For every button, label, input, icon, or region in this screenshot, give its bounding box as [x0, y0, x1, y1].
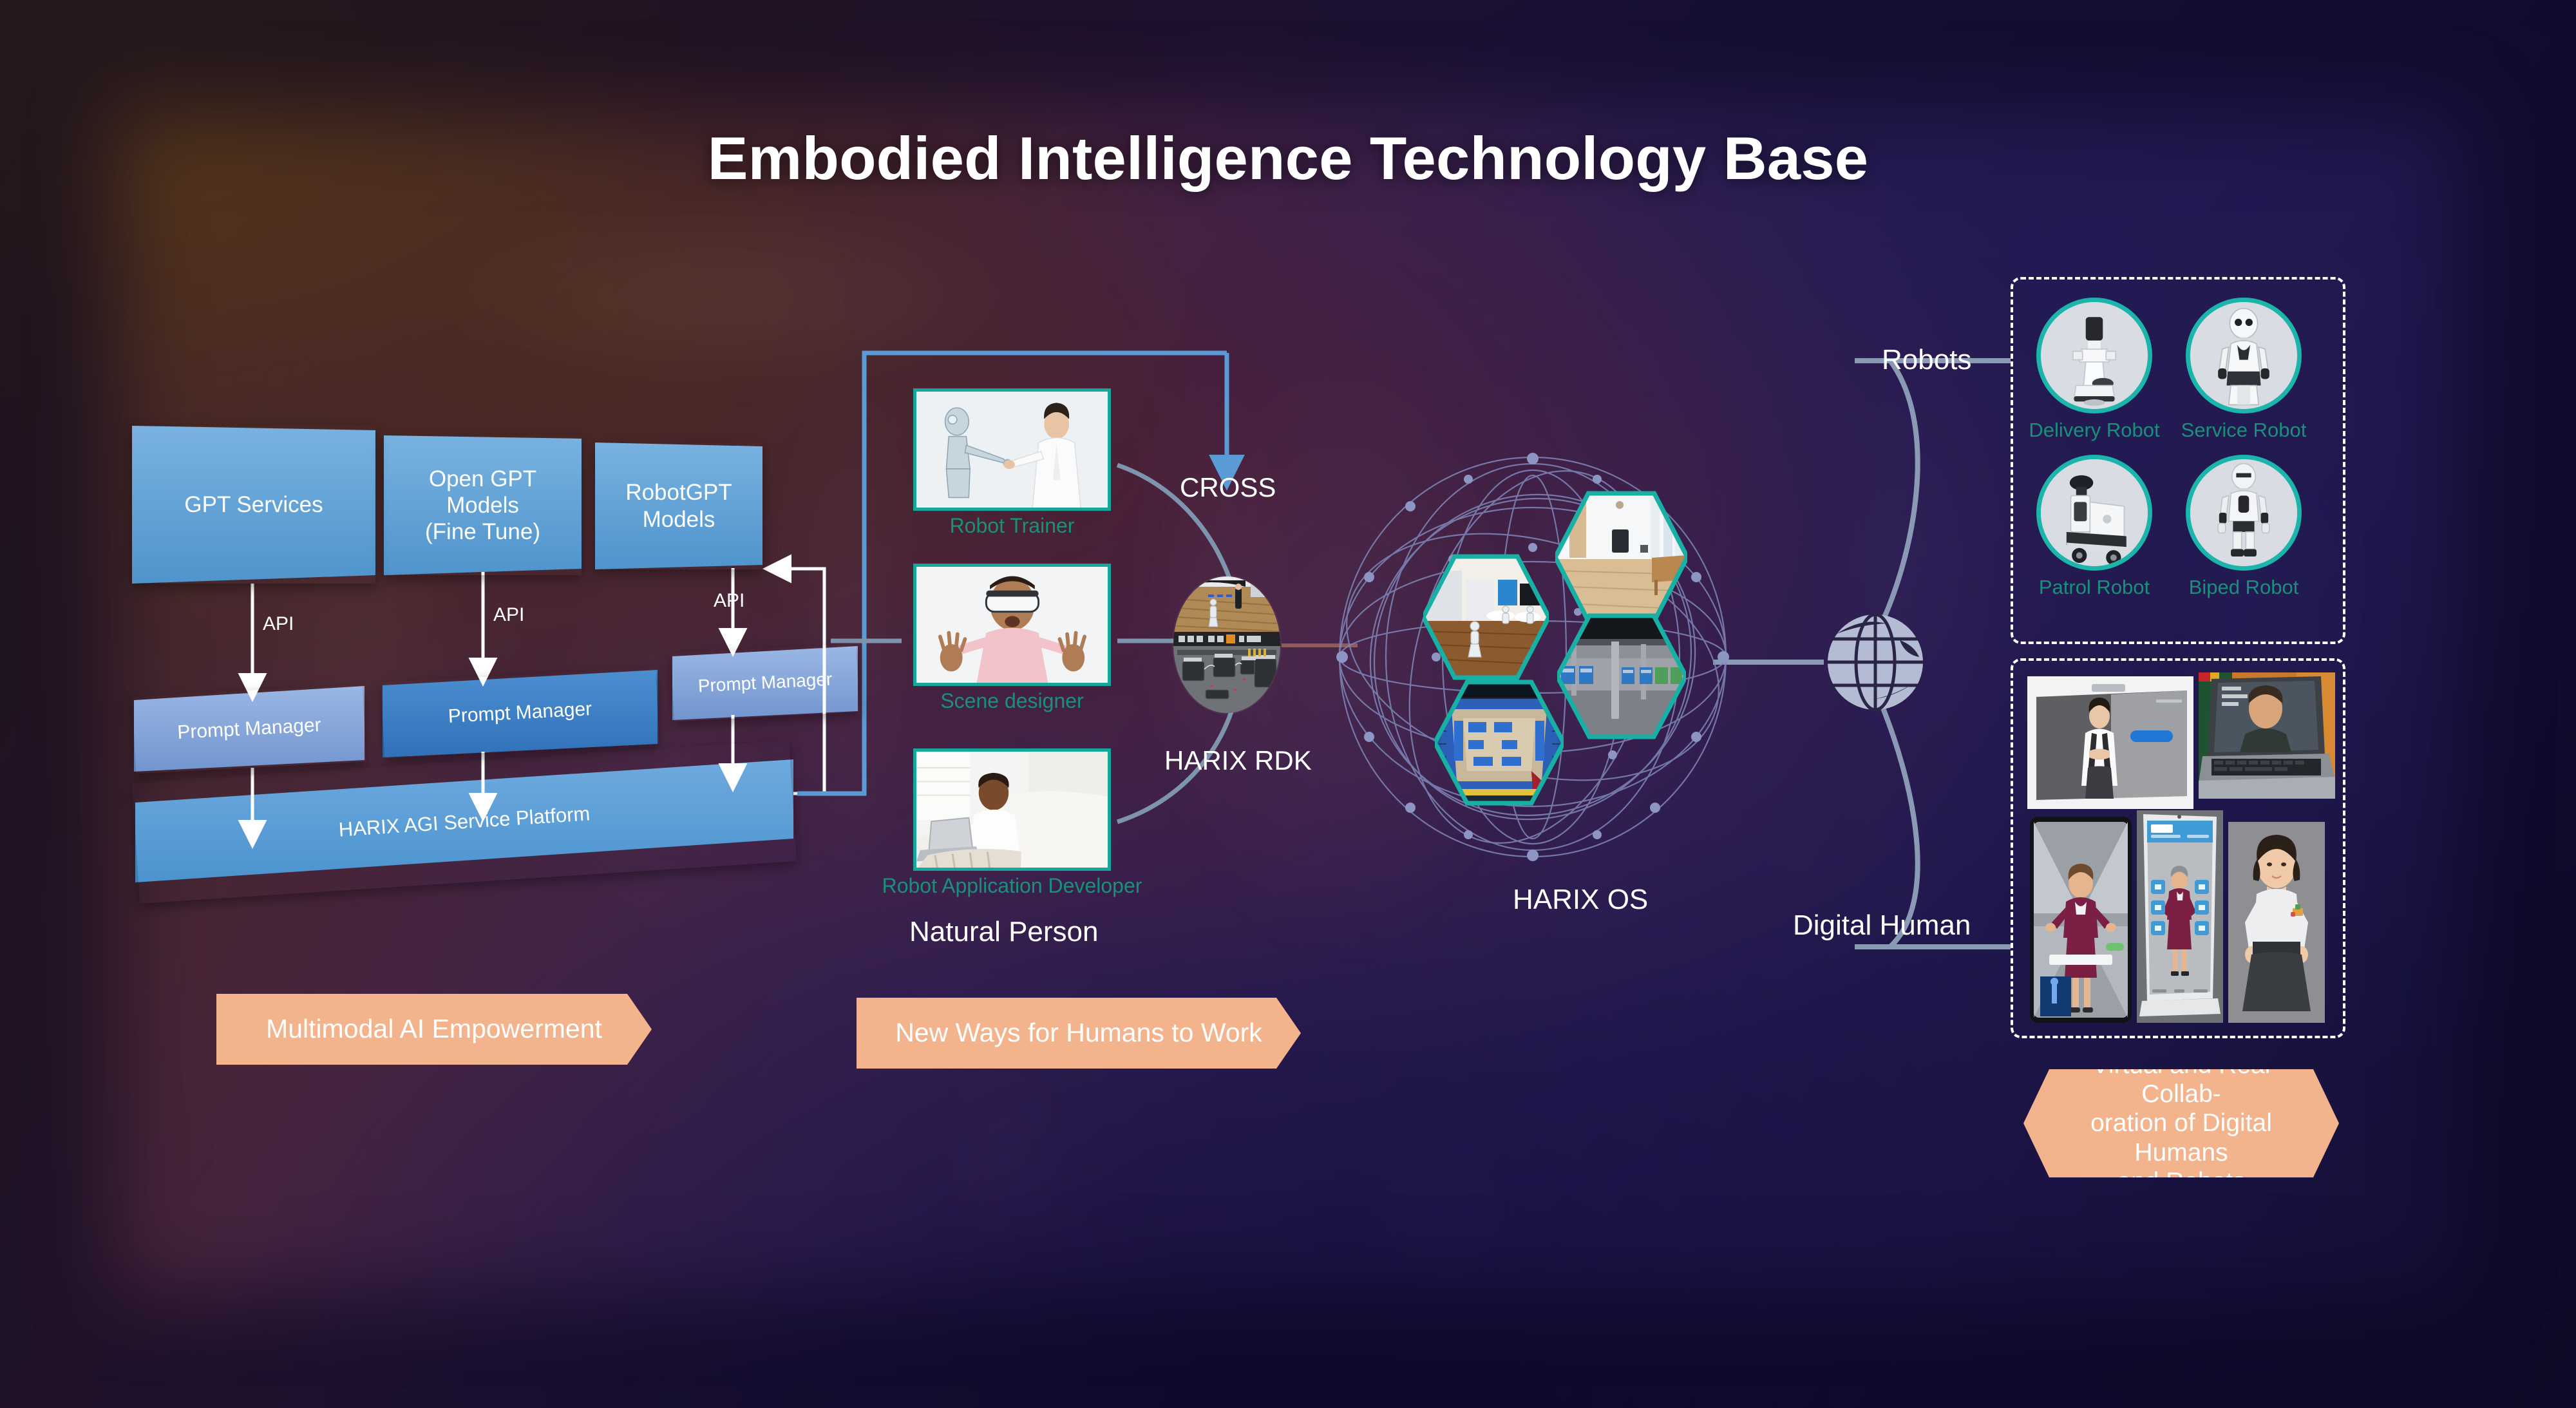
api-label-3: API — [714, 590, 744, 612]
stadium-arena-scene-hexagon — [1435, 680, 1564, 806]
robot-cell-delivery[interactable]: Delivery Robot — [2036, 298, 2152, 414]
digital-human-kiosk[interactable] — [2027, 676, 2193, 809]
api-label-1: API — [263, 613, 294, 635]
digital-human-phone[interactable] — [2030, 817, 2132, 1023]
photo-caption: Robot Trainer — [950, 514, 1075, 538]
prompt-manager-3[interactable]: Prompt Manager — [670, 644, 859, 722]
hex-scene-restaurant[interactable] — [1423, 554, 1549, 680]
standee-avatar-illustration — [2137, 810, 2223, 1023]
office-room-scene-hexagon — [1555, 491, 1687, 623]
service-robot-icon — [2190, 302, 2297, 409]
photo-caption: Robot Application Developer — [882, 874, 1142, 898]
robot-avatar — [2036, 455, 2152, 571]
robot-and-trainer-illustration — [916, 392, 1108, 510]
robot-label: Delivery Robot — [2029, 419, 2159, 442]
robot-label: Biped Robot — [2189, 576, 2299, 599]
harix-os-label: HARIX OS — [1513, 884, 1648, 916]
globe-icon — [1824, 611, 1927, 714]
patrol-robot-icon — [2041, 459, 2148, 566]
banner-multimodal-ai-empowerment[interactable]: Multimodal AI Empowerment — [216, 994, 652, 1065]
natural-person-label: Natural Person — [909, 916, 1098, 948]
cross-label: CROSS — [1180, 472, 1276, 503]
banner-label: Virtual and Real Collab- oration of Digi… — [2052, 1051, 2311, 1196]
photo-caption: Scene designer — [940, 689, 1083, 713]
digital-human-laptop[interactable] — [2199, 672, 2335, 799]
prompt-manager-2[interactable]: Prompt Manager — [381, 668, 659, 758]
banner-virtual-real-collaboration[interactable]: Virtual and Real Collab- oration of Digi… — [2023, 1069, 2339, 1177]
banner-label: Multimodal AI Empowerment — [266, 1014, 602, 1045]
robots-label: Robots — [1882, 344, 1971, 376]
harix-rdk-label: HARIX RDK — [1164, 745, 1312, 776]
developer-with-laptop-illustration — [916, 752, 1108, 870]
digital-human-standee[interactable] — [2137, 810, 2223, 1023]
robot-cell-biped[interactable]: Biped Robot — [2186, 455, 2302, 571]
api-label-2: API — [493, 604, 524, 626]
digital-human-panel — [2011, 658, 2345, 1038]
transit-station-scene-hexagon — [1557, 613, 1686, 739]
photo-frame — [913, 748, 1111, 871]
robots-panel: Delivery Robot Service Robot — [2011, 277, 2345, 644]
robot-cell-patrol[interactable]: Patrol Robot — [2036, 455, 2152, 571]
prompt-manager-label: Prompt Manager — [448, 698, 592, 728]
prompt-manager-label: Prompt Manager — [697, 669, 833, 697]
model-box-open-gpt-models[interactable]: Open GPT Models (Fine Tune) — [384, 435, 582, 575]
banner-label: New Ways for Humans to Work — [895, 1018, 1262, 1049]
kiosk-screen-avatar-illustration — [2027, 676, 2193, 809]
banner-new-ways-for-humans-to-work[interactable]: New Ways for Humans to Work — [857, 998, 1301, 1069]
rdk-scene-editor-thumbnail — [1173, 576, 1280, 713]
model-box-label: Open GPT Models (Fine Tune) — [425, 466, 540, 546]
robot-avatar — [2186, 455, 2302, 571]
model-box-label: GPT Services — [184, 491, 323, 518]
model-box-gpt-services[interactable]: GPT Services — [132, 426, 375, 584]
harix-rdk-preview[interactable] — [1173, 576, 1280, 713]
delivery-robot-icon — [2041, 302, 2148, 409]
robot-label: Patrol Robot — [2039, 576, 2150, 599]
hex-scene-stadium[interactable] — [1435, 680, 1564, 806]
photo-frame — [913, 564, 1111, 686]
photo-card-scene-designer[interactable]: Scene designer — [913, 564, 1111, 686]
hex-scene-office[interactable] — [1555, 491, 1687, 623]
digital-human-casual[interactable] — [2228, 822, 2325, 1023]
photo-card-robot-application-developer[interactable]: Robot Application Developer — [913, 748, 1111, 871]
platform-label: HARIX AGI Service Platform — [338, 802, 591, 842]
prompt-manager-label: Prompt Manager — [177, 714, 322, 744]
robot-avatar — [2036, 298, 2152, 414]
photo-card-robot-trainer[interactable]: Robot Trainer — [913, 388, 1111, 511]
api-arrows — [252, 568, 733, 690]
biped-robot-icon — [2190, 459, 2297, 566]
laptop-video-avatar-illustration — [2199, 672, 2335, 799]
phone-avatar-illustration — [2030, 817, 2132, 1023]
vr-headset-user-illustration — [916, 567, 1108, 685]
casual-avatar-illustration — [2228, 822, 2325, 1023]
robot-avatar — [2186, 298, 2302, 414]
photo-frame — [913, 388, 1111, 511]
restaurant-scene-hexagon — [1423, 554, 1549, 680]
hex-scene-transit[interactable] — [1557, 613, 1686, 739]
robot-cell-service[interactable]: Service Robot — [2186, 298, 2302, 414]
model-box-robotgpt-models[interactable]: RobotGPT Models — [595, 442, 762, 569]
robot-label: Service Robot — [2181, 419, 2307, 442]
digital-human-label: Digital Human — [1793, 909, 1971, 942]
model-box-label: RobotGPT Models — [625, 479, 732, 533]
page-title: Embodied Intelligence Technology Base — [0, 124, 2576, 193]
prompt-manager-1[interactable]: Prompt Manager — [132, 685, 366, 774]
